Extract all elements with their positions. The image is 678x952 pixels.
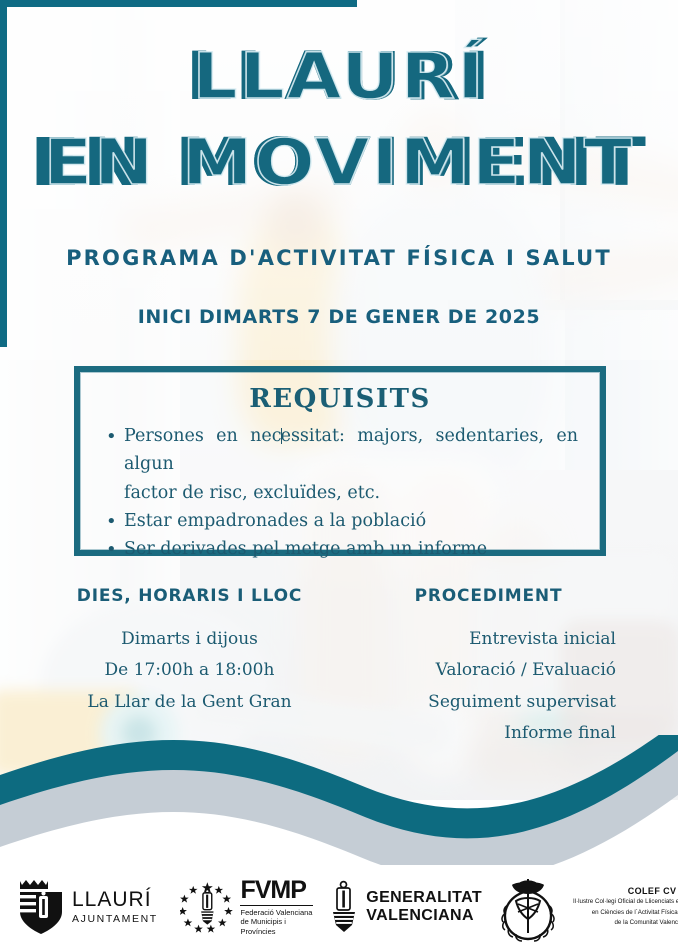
column-procedure-heading: PROCEDIMENT <box>339 586 638 606</box>
colef-name: COLEF CV <box>568 886 678 896</box>
poster-title: LLAURÍ LLAURÍ EN MOVIMENT EN MOVIMENT <box>0 44 678 196</box>
fvmp-sub-line2: de Municipis i Províncies <box>240 917 313 936</box>
poster-subtitle: PROGRAMA D'ACTIVITAT FÍSICA I SALUT <box>0 246 678 270</box>
info-columns: DIES, HORARIS I LLOC Dimarts i dijous De… <box>40 586 638 750</box>
llauri-sub: AJUNTAMENT <box>72 913 158 925</box>
frame-top-bar <box>0 0 357 7</box>
poster-dateline: INICI DIMARTS 7 DE GENER DE 2025 <box>0 306 678 328</box>
logo-fvmp: FVMP Federació Valenciana de Municipis i… <box>180 877 313 937</box>
fvmp-stars-icon <box>180 877 235 937</box>
fvmp-divider <box>240 905 313 906</box>
generalitat-crest-icon <box>327 878 361 936</box>
colef-emblem-icon <box>492 871 564 943</box>
colef-sub-line2: en Ciències de l´Activitat Física i de l… <box>568 909 678 917</box>
colef-sub-line3: de la Comunitat Valenciana <box>568 919 678 927</box>
requisits-item-line2: factor de risc, excluïdes, etc. <box>124 479 578 507</box>
gva-line2: VALENCIANA <box>366 907 482 925</box>
requisits-item: Estar empadronades a la població <box>106 507 578 535</box>
poster-root: LLAURÍ LLAURÍ EN MOVIMENT EN MOVIMENT PR… <box>0 0 678 952</box>
gva-line1: GENERALITAT <box>366 889 482 907</box>
requisits-item: Ser derivades pel metge amb un informe <box>106 535 578 563</box>
list-item: Dimarts i dijous <box>40 624 339 655</box>
column-schedule-list: Dimarts i dijous De 17:00h a 18:00h La L… <box>40 624 339 718</box>
list-item: Entrevista inicial <box>339 624 638 655</box>
requisits-list: Persones en necessitat: majors, sedentar… <box>80 422 600 564</box>
logo-colef-cv: COLEF CV Il·lustre Col·legi Oficial de L… <box>492 871 678 943</box>
title-line-2: EN MOVIMENT EN MOVIMENT <box>0 130 678 196</box>
llauri-name: LLAURÍ <box>72 889 158 910</box>
wave-decoration <box>0 735 678 865</box>
list-item: La Llar de la Gent Gran <box>40 687 339 718</box>
column-procedure: PROCEDIMENT Entrevista inicial Valoració… <box>339 586 638 750</box>
list-item: Valoració / Evaluació <box>339 655 638 686</box>
column-procedure-list: Entrevista inicial Valoració / Evaluació… <box>339 624 638 750</box>
logo-llauri-ajuntament: LLAURÍ AJUNTAMENT <box>14 879 158 935</box>
list-item: Seguiment supervisat <box>339 687 638 718</box>
footer-logos: LLAURÍ AJUNTAMENT <box>0 862 678 952</box>
list-item: De 17:00h a 18:00h <box>40 655 339 686</box>
title-line-1: LLAURÍ LLAURÍ <box>0 44 678 110</box>
column-schedule-heading: DIES, HORARIS I LLOC <box>40 586 339 606</box>
requisits-box: REQUISITS Persones en necessitat: majors… <box>74 366 606 556</box>
colef-sub-line1: Il·lustre Col·legi Oficial de Llicenciat… <box>568 898 678 906</box>
llauri-shield-icon <box>14 879 68 935</box>
requisits-heading: REQUISITS <box>80 384 600 414</box>
fvmp-name: FVMP <box>240 878 313 903</box>
requisits-item: Persones en necessitat: majors, sedentar… <box>106 422 578 507</box>
column-schedule: DIES, HORARIS I LLOC Dimarts i dijous De… <box>40 586 339 750</box>
fvmp-sub-line1: Federació Valenciana <box>240 908 313 917</box>
logo-generalitat-valenciana: GENERALITAT VALENCIANA <box>327 878 482 936</box>
